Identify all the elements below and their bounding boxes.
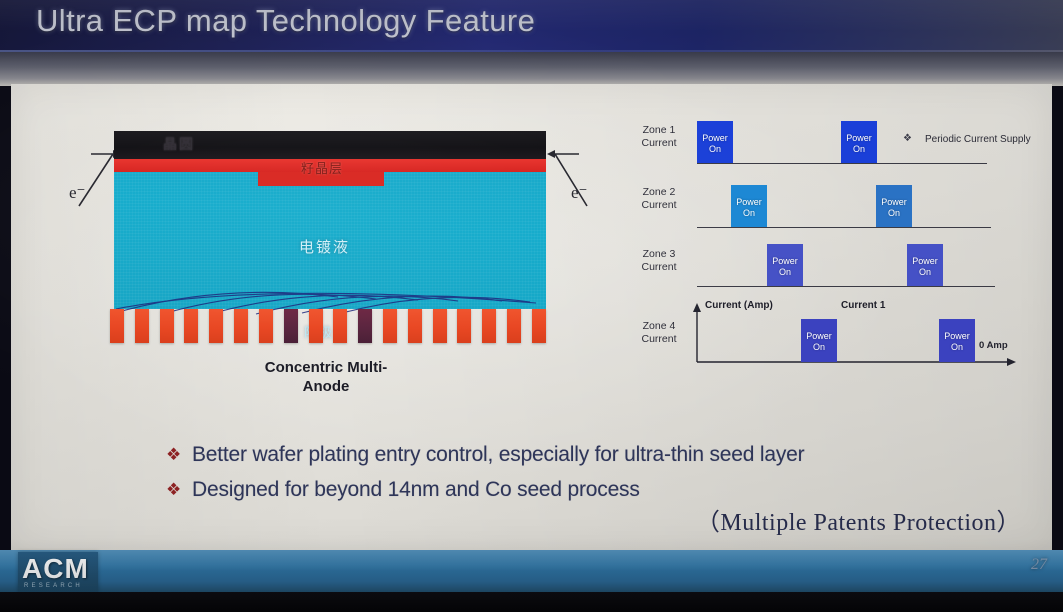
page-title: Ultra ECP map Technology Feature [36,3,535,39]
list-item: ❖ Better wafer plating entry control, es… [166,442,986,468]
anode-bar [209,309,223,343]
bullet-text: Better wafer plating entry control, espe… [192,442,804,468]
list-item: ❖ Designed for beyond 14nm and Co seed p… [166,477,986,503]
anode-bar [408,309,422,343]
zone-1-baseline [697,163,987,164]
zone-row-2: Zone 2 Current Power On Power On [619,172,1039,242]
diagram-caption-line1: Concentric Multi- [106,358,546,377]
zone-3-baseline [697,286,995,287]
zone-4-pulse-2: Power On [939,319,975,362]
zero-amp-label: 0 Amp [979,340,1008,351]
zone-2-baseline [697,227,991,228]
slide-content-area: e⁻ 晶圆 电镀液 阳极 籽晶层 [11,84,1052,550]
anode-bar [507,309,521,343]
legend-diamond-icon: ❖ [903,133,912,144]
acm-logo-text: ACM [22,553,89,585]
anode-bar-highlighted [358,309,372,343]
anode-bar [532,309,546,343]
presentation-slide: Ultra ECP map Technology Feature e⁻ 晶圆 电… [0,0,1063,612]
zone-2-label: Zone 2 Current [627,186,691,212]
diagram-caption: Concentric Multi- Anode [106,358,546,396]
bullet-diamond-icon: ❖ [166,442,192,468]
anode-bar [184,309,198,343]
zone-3-label: Zone 3 Current [627,248,691,274]
anode-bar [457,309,471,343]
page-number: 27 [1031,556,1047,574]
wafer-layer-label: 晶圆 [163,134,195,154]
ecp-cross-section-diagram: 晶圆 电镀液 阳极 籽晶层 [106,131,546,356]
zone-3-pulse-2: Power On [907,244,943,286]
current-amp-axis-label: Current (Amp) [705,300,773,311]
anode-bar-highlighted [284,309,298,343]
concentric-anode-array [110,309,546,345]
anode-bar [234,309,248,343]
bullet-diamond-icon: ❖ [166,477,192,503]
anode-bar [383,309,397,343]
zone-row-4: Zone 4 Current Current (Amp) Current 1 P… [619,292,1039,382]
anode-bar [259,309,273,343]
electron-label-right: e⁻ [571,183,588,203]
zone-row-1: Zone 1 Current Power On Power On ❖ Perio… [619,110,1039,180]
plating-bath-layer: 电镀液 阳极 [114,172,546,309]
zone-1-pulse-1: Power On [697,121,733,163]
current-level-label: Current 1 [841,300,885,311]
zone-2-pulse-2: Power On [876,185,912,227]
anode-bar [160,309,174,343]
anode-bar [433,309,447,343]
diagram-caption-line2: Anode [106,377,546,396]
seed-layer-label: 籽晶层 [301,158,343,177]
bullet-text: Designed for beyond 14nm and Co seed pro… [192,477,640,503]
legend-note-text: Periodic Current Supply [925,134,1031,145]
plating-bath-label: 电镀液 [299,236,350,257]
anode-bar [333,309,347,343]
zone-current-timing-chart: Zone 1 Current Power On Power On ❖ Perio… [619,110,1039,410]
zone-1-label: Zone 1 Current [627,124,691,150]
footer-bottom-edge [0,592,1063,612]
zone-2-pulse-1: Power On [731,185,767,227]
footer-shine [0,550,1063,571]
zone-4-pulse-1: Power On [801,319,837,362]
electron-label-left: e⁻ [69,183,86,203]
zone-1-pulse-2: Power On [841,121,877,163]
title-transition-band [0,52,1063,86]
acm-logo-subtitle: RESEARCH [24,583,83,589]
slide-footer-bar [0,550,1063,592]
anode-bar [309,309,323,343]
electron-flow-right: e⁻ [541,136,601,216]
anode-bar [135,309,149,343]
zone-4-label: Zone 4 Current [627,320,691,346]
anode-bar [110,309,124,343]
anode-bar [482,309,496,343]
patents-protection-note: （Multiple Patents Protection） [11,502,1021,537]
zone-3-pulse-1: Power On [767,244,803,286]
